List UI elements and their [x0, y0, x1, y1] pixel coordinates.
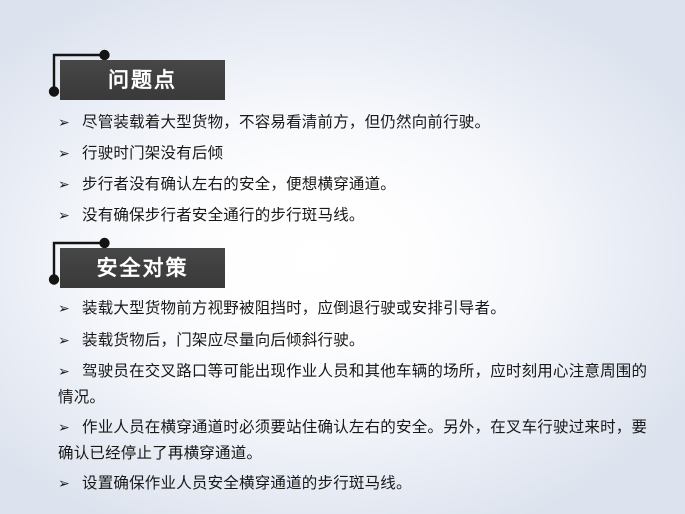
bullet-text: 驾驶员在交叉路口等可能出现作业人员和其他车辆的场所，应时刻用心注意周围的情况。: [58, 362, 647, 406]
bullet-text: 装载货物后，门架应尽量向后倾斜行驶。: [82, 331, 365, 349]
section-measure-header: 安全对策: [0, 234, 685, 290]
bullet-item: ➢尽管装载着大型货物，不容易看清前方，但仍然向前行驶。: [58, 110, 658, 136]
section-measure-title-box: 安全对策: [60, 248, 225, 288]
bullet-text: 没有确保步行者安全通行的步行斑马线。: [82, 206, 365, 224]
section-problem-title-box: 问题点: [60, 60, 225, 100]
bullet-arrow-icon: ➢: [58, 472, 82, 497]
section-problem: 问题点 ➢尽管装载着大型货物，不容易看清前方，但仍然向前行驶。 ➢行驶时门架没有…: [0, 46, 685, 102]
bullet-arrow-icon: ➢: [58, 173, 82, 198]
bullet-arrow-icon: ➢: [58, 329, 82, 354]
bullet-text: 装载大型货物前方视野被阻挡时，应倒退行驶或安排引导者。: [82, 299, 506, 317]
bullet-text: 行驶时门架没有后倾: [82, 144, 223, 162]
bullet-item: ➢行驶时门架没有后倾: [58, 141, 658, 167]
section-problem-title: 问题点: [108, 70, 177, 91]
section-measure: 安全对策 ➢装载大型货物前方视野被阻挡时，应倒退行驶或安排引导者。 ➢装载货物后…: [0, 234, 685, 290]
section-measure-title: 安全对策: [97, 258, 189, 279]
bullet-text: 设置确保作业人员安全横穿通道的步行斑马线。: [82, 474, 412, 492]
bullet-arrow-icon: ➢: [58, 360, 82, 385]
bullet-item: ➢驾驶员在交叉路口等可能出现作业人员和其他车辆的场所，应时刻用心注意周围的情况。: [58, 359, 658, 409]
bullet-arrow-icon: ➢: [58, 204, 82, 229]
slide-canvas: 问题点 ➢尽管装载着大型货物，不容易看清前方，但仍然向前行驶。 ➢行驶时门架没有…: [0, 0, 685, 514]
section-problem-bullet-list: ➢尽管装载着大型货物，不容易看清前方，但仍然向前行驶。 ➢行驶时门架没有后倾 ➢…: [58, 110, 658, 234]
section-measure-bullet-list: ➢装载大型货物前方视野被阻挡时，应倒退行驶或安排引导者。 ➢装载货物后，门架应尽…: [58, 296, 658, 503]
bullet-arrow-icon: ➢: [58, 416, 82, 441]
section-problem-header: 问题点: [0, 46, 685, 102]
bullet-item: ➢没有确保步行者安全通行的步行斑马线。: [58, 203, 658, 229]
bullet-item: ➢装载大型货物前方视野被阻挡时，应倒退行驶或安排引导者。: [58, 296, 658, 322]
bullet-text: 作业人员在横穿通道时必须要站住确认左右的安全。另外，在叉车行驶过来时，要确认已经…: [58, 418, 647, 462]
bullet-item: ➢设置确保作业人员安全横穿通道的步行斑马线。: [58, 471, 658, 497]
bullet-arrow-icon: ➢: [58, 111, 82, 136]
bullet-item: ➢作业人员在横穿通道时必须要站住确认左右的安全。另外，在叉车行驶过来时，要确认已…: [58, 415, 658, 465]
bullet-text: 步行者没有确认左右的安全，便想横穿通道。: [82, 175, 396, 193]
bullet-item: ➢步行者没有确认左右的安全，便想横穿通道。: [58, 172, 658, 198]
bullet-item: ➢装载货物后，门架应尽量向后倾斜行驶。: [58, 328, 658, 354]
bullet-arrow-icon: ➢: [58, 142, 82, 167]
bullet-text: 尽管装载着大型货物，不容易看清前方，但仍然向前行驶。: [82, 113, 490, 131]
bullet-arrow-icon: ➢: [58, 297, 82, 322]
